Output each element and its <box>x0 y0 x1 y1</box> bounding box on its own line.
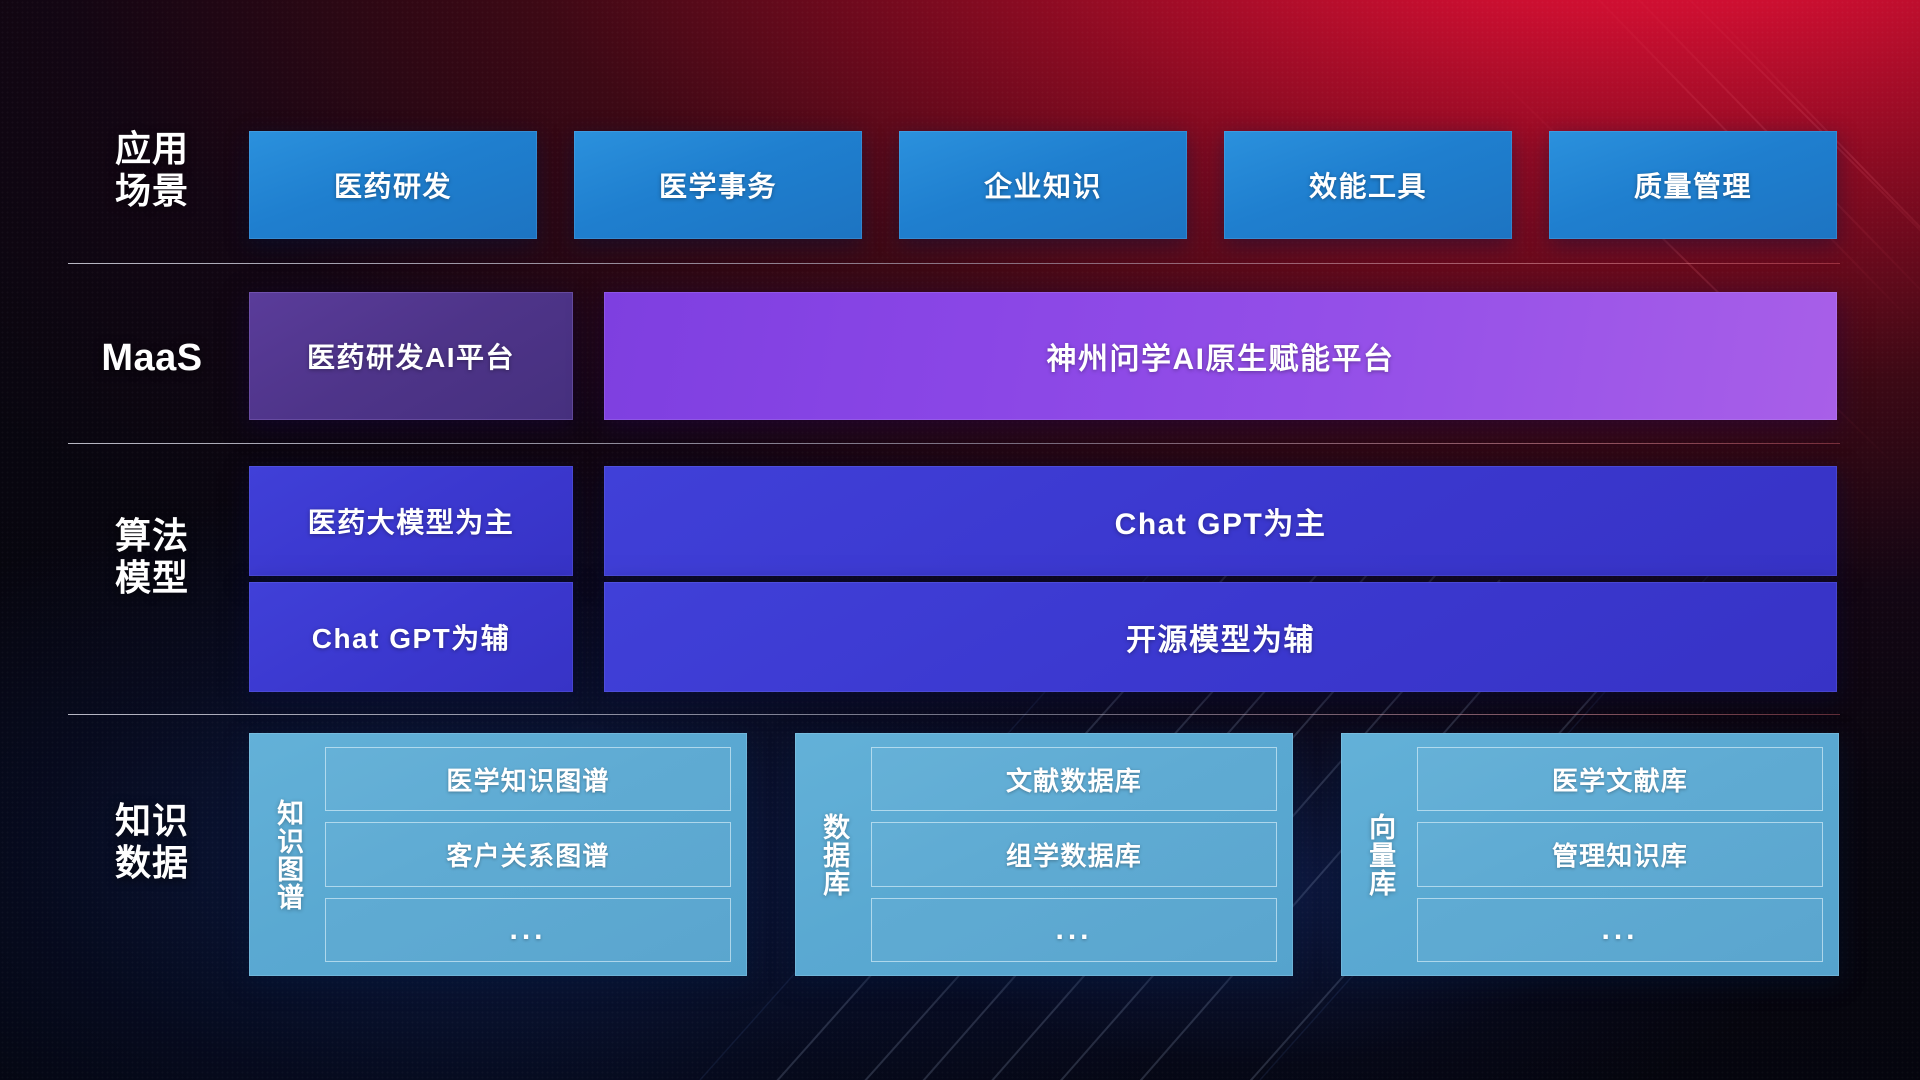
row-label-algorithm-model: 算法 模型 <box>92 515 212 599</box>
knowledge-panel-database-title: 数据库 <box>807 747 861 962</box>
scene-box-2[interactable]: 医学事务 <box>574 131 862 239</box>
maas-platform-box-shenzhou-label: 神州问学AI原生赋能平台 <box>1047 334 1395 378</box>
maas-platform-box-medical-label: 医药研发AI平台 <box>307 336 515 376</box>
scene-box-1[interactable]: 医药研发 <box>249 131 537 239</box>
knowledge-panel-knowledge-graph[interactable]: 知识图谱 医学知识图谱 客户关系图谱 ... <box>249 733 747 976</box>
knowledge-panel-knowledge-graph-title: 知识图谱 <box>261 747 315 962</box>
knowledge-panel-vector-store[interactable]: 向量库 医学文献库 管理知识库 ... <box>1341 733 1839 976</box>
algo-box-chatgpt-primary[interactable]: Chat GPT为主 <box>604 466 1837 576</box>
scene-box-5-label: 质量管理 <box>1634 165 1752 205</box>
algo-box-opensource-secondary[interactable]: 开源模型为辅 <box>604 582 1837 692</box>
scene-box-3[interactable]: 企业知识 <box>899 131 1187 239</box>
scene-box-2-label: 医学事务 <box>659 165 777 205</box>
row-label-maas: MaaS <box>92 336 212 380</box>
maas-platform-box-shenzhou[interactable]: 神州问学AI原生赋能平台 <box>604 292 1837 420</box>
knowledge-panel-vector-store-items: 医学文献库 管理知识库 ... <box>1417 747 1823 962</box>
knowledge-panel-database-items: 文献数据库 组学数据库 ... <box>871 747 1277 962</box>
row-label-application-scenario: 应用 场景 <box>92 128 212 212</box>
scene-box-3-label: 企业知识 <box>984 165 1102 205</box>
slide-canvas: 应用 场景 医药研发 医学事务 企业知识 效能工具 质量管理 MaaS 医药研发… <box>0 0 1920 1080</box>
diagram-content: 应用 场景 医药研发 医学事务 企业知识 效能工具 质量管理 MaaS 医药研发… <box>0 0 1920 1080</box>
divider-after-application-scenario <box>68 263 1840 264</box>
divider-after-maas <box>68 443 1840 444</box>
knowledge-item[interactable]: 文献数据库 <box>871 747 1277 811</box>
knowledge-item[interactable]: 医学知识图谱 <box>325 747 731 811</box>
divider-after-algorithm-model <box>68 714 1840 715</box>
knowledge-panel-database[interactable]: 数据库 文献数据库 组学数据库 ... <box>795 733 1293 976</box>
knowledge-item[interactable]: 组学数据库 <box>871 822 1277 886</box>
scene-box-4[interactable]: 效能工具 <box>1224 131 1512 239</box>
knowledge-item[interactable]: 客户关系图谱 <box>325 822 731 886</box>
row-label-knowledge-data: 知识 数据 <box>92 800 212 884</box>
algo-box-chatgpt-secondary[interactable]: Chat GPT为辅 <box>249 582 573 692</box>
scene-box-4-label: 效能工具 <box>1309 165 1427 205</box>
scene-box-1-label: 医药研发 <box>334 165 452 205</box>
algo-box-medical-primary-label: 医药大模型为主 <box>308 501 515 541</box>
algo-box-chatgpt-secondary-label: Chat GPT为辅 <box>312 617 511 657</box>
knowledge-item-more[interactable]: ... <box>1417 898 1823 962</box>
algo-box-chatgpt-primary-label: Chat GPT为主 <box>1115 499 1327 543</box>
scene-box-5[interactable]: 质量管理 <box>1549 131 1837 239</box>
knowledge-panel-vector-store-title: 向量库 <box>1353 747 1407 962</box>
maas-platform-box-medical[interactable]: 医药研发AI平台 <box>249 292 573 420</box>
knowledge-item[interactable]: 管理知识库 <box>1417 822 1823 886</box>
algo-box-opensource-secondary-label: 开源模型为辅 <box>1126 615 1315 659</box>
knowledge-item[interactable]: 医学文献库 <box>1417 747 1823 811</box>
algo-box-medical-primary[interactable]: 医药大模型为主 <box>249 466 573 576</box>
knowledge-item-more[interactable]: ... <box>871 898 1277 962</box>
knowledge-item-more[interactable]: ... <box>325 898 731 962</box>
knowledge-panel-knowledge-graph-items: 医学知识图谱 客户关系图谱 ... <box>325 747 731 962</box>
